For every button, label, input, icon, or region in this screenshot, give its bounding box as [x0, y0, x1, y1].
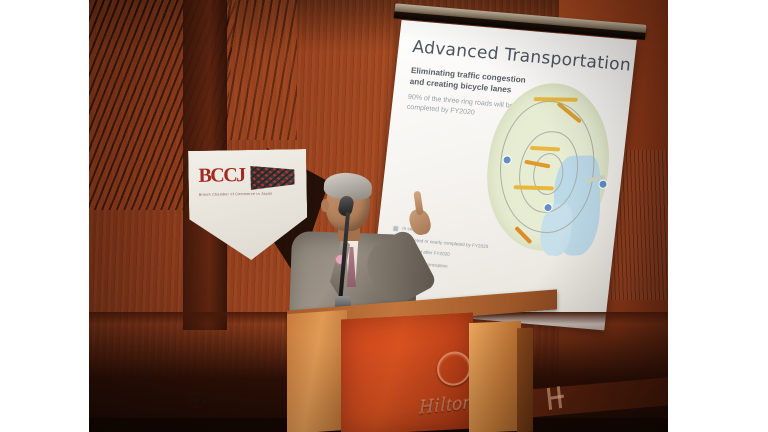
conference-photograph: Advanced Transportation Eliminating traf… — [89, 0, 668, 432]
map-marker-icon — [598, 179, 608, 189]
tokyo-ring-road-map — [476, 70, 626, 265]
hilton-h-glyph — [547, 386, 562, 410]
hilton-wordmark: Hilton — [419, 391, 473, 420]
speaker-ear — [321, 199, 329, 212]
map-road-segment — [534, 97, 578, 102]
lectern-podium: Hilton — [287, 300, 557, 432]
podium-front-panel: Hilton — [341, 313, 473, 432]
bccj-banner-subtitle: British Chamber of Commerce in Japan — [199, 191, 295, 197]
bccj-logo: BCCJ — [198, 163, 296, 188]
hilton-emblem-icon — [436, 350, 472, 387]
podium-right-panel — [469, 321, 521, 432]
letterbox-bar-right — [668, 0, 768, 432]
podium-side-edge — [517, 328, 533, 432]
screenshot-stage: Advanced Transportation Eliminating traf… — [0, 0, 768, 432]
letterbox-bar-left — [0, 0, 89, 432]
bccj-logo-text: BCCJ — [198, 164, 245, 187]
podium-left-panel — [287, 310, 347, 432]
